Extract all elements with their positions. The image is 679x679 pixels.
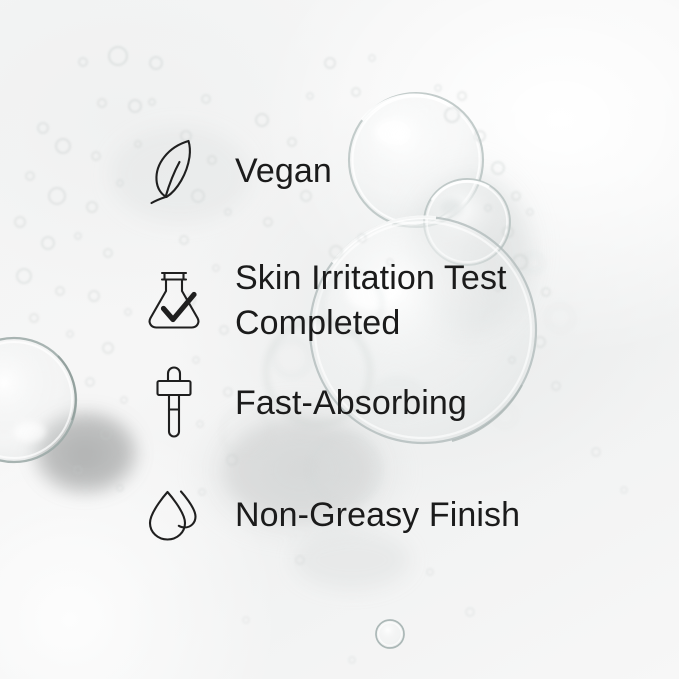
feature-item-non-greasy-finish: Non-Greasy Finish <box>141 480 520 552</box>
leaf-icon <box>141 136 207 208</box>
feature-label-non-greasy-finish: Non-Greasy Finish <box>235 493 520 538</box>
feature-item-skin-irritation-test: Skin Irritation Test Completed <box>141 256 507 346</box>
feature-label-fast-absorbing: Fast-Absorbing <box>235 381 467 426</box>
feature-label-skin-irritation-test: Skin Irritation Test Completed <box>235 256 507 346</box>
feature-list: Vegan Skin Irritation Test Completed <box>0 0 679 679</box>
feature-item-fast-absorbing: Fast-Absorbing <box>141 368 467 440</box>
dropper-icon <box>141 368 207 440</box>
feature-label-vegan: Vegan <box>235 149 332 194</box>
feature-item-vegan: Vegan <box>141 136 332 208</box>
product-feature-image: Vegan Skin Irritation Test Completed <box>0 0 679 679</box>
flask-check-icon <box>141 265 207 337</box>
water-droplets-icon <box>141 480 207 552</box>
